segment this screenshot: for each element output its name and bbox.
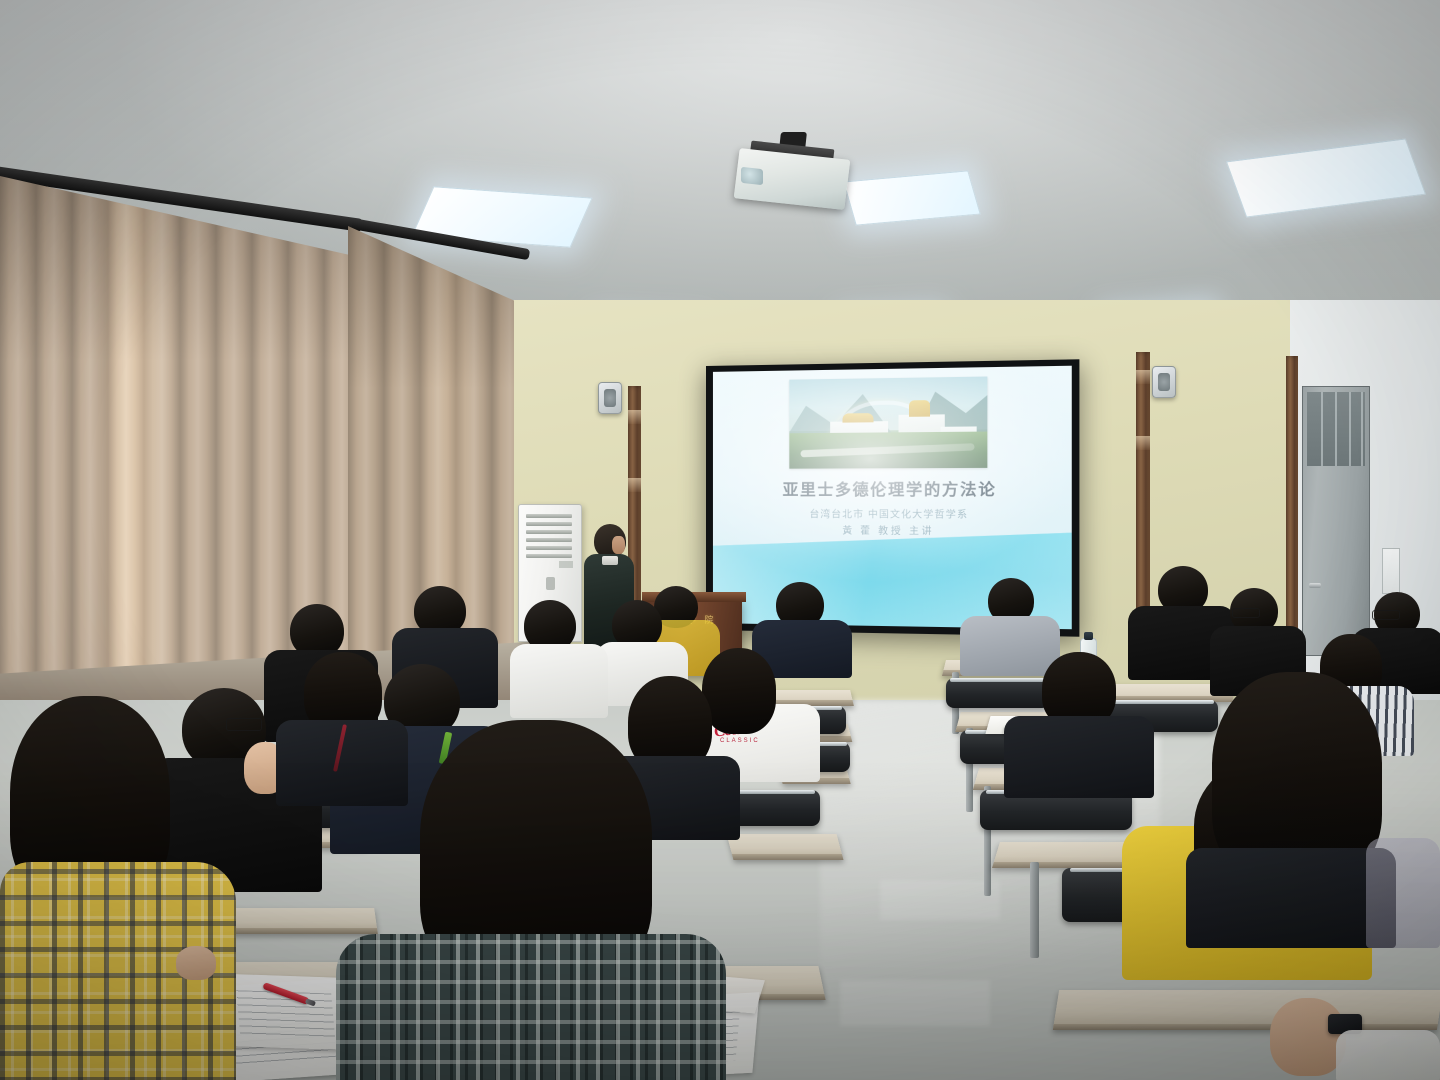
student-desk [727, 834, 844, 860]
wall-speaker [598, 382, 622, 414]
person-body [510, 644, 608, 718]
audience-person [510, 600, 608, 716]
slide-subtitle-line1: 台湾台北市 中国文化大学哲学系 [713, 506, 1072, 521]
audience-person [1186, 672, 1396, 942]
wall-speaker [1152, 366, 1176, 398]
ceiling-projector [736, 142, 848, 204]
desk-leg [1030, 862, 1039, 958]
person-body [1336, 1030, 1440, 1080]
slide-title: 亚里士多德伦理学的方法论 [713, 477, 1072, 500]
eyeglasses [1232, 608, 1260, 618]
person-hand [1270, 998, 1346, 1076]
aircon-display [546, 577, 555, 590]
slide-photo [789, 377, 987, 469]
door-handle[interactable] [1309, 583, 1321, 588]
lecture-hall-photo: 亚里士多德伦理学的方法论 台湾台北市 中国文化大学哲学系 黃 藿 教授 主讲 2… [0, 0, 1440, 1080]
wall-switch-plate[interactable] [1382, 548, 1400, 594]
presenter-face [612, 536, 625, 554]
projector-lens [741, 167, 763, 185]
eyeglasses [1372, 610, 1400, 620]
floor-tile-seam [840, 980, 990, 1026]
presenter-collar [602, 556, 618, 565]
person-body [1186, 848, 1396, 948]
audience-person [0, 696, 268, 1080]
audience-person [1262, 990, 1440, 1080]
person-body [336, 934, 726, 1080]
building-roof [842, 413, 873, 423]
person-body [1366, 838, 1440, 948]
building-roof [909, 400, 930, 417]
aircon-badge [559, 561, 573, 568]
door-glass-panel [1307, 392, 1365, 466]
floor-tile-seam [880, 880, 1000, 920]
person-hand [176, 946, 216, 980]
aircon-vents [526, 514, 572, 554]
audience-person [336, 720, 726, 1080]
audience-person [1366, 838, 1440, 948]
